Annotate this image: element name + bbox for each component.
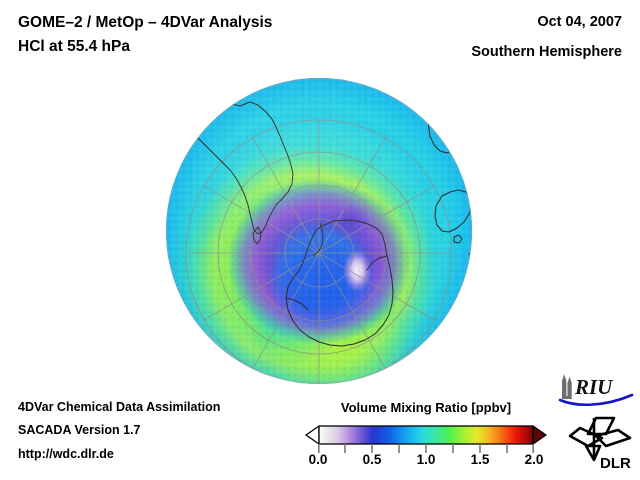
riu-wordmark: RIU	[574, 375, 614, 399]
riu-towers-icon	[562, 374, 572, 399]
title-species: HCl at 55.4 hPa	[18, 38, 130, 56]
title-date: Oct 04, 2007	[537, 14, 622, 30]
colorbar-gradient	[305, 424, 547, 446]
colorbar-cap-min	[306, 426, 319, 444]
dlr-wordmark: DLR	[600, 455, 631, 472]
footer-line-version: SACADA Version 1.7	[18, 423, 141, 437]
sphere-shading	[166, 78, 472, 384]
colorbar-tick-label: 1.5	[471, 452, 490, 467]
colorbar	[305, 424, 547, 446]
colorbar-bar	[319, 426, 533, 444]
globe-disc	[166, 78, 472, 384]
dlr-eagle-icon	[570, 418, 630, 460]
figure-canvas: GOME–2 / MetOp – 4DVar Analysis HCl at 5…	[0, 0, 640, 480]
orthographic-map	[166, 78, 472, 384]
title-instrument: GOME–2 / MetOp – 4DVar Analysis	[18, 14, 272, 32]
colorbar-tick-labels: 0.00.51.01.52.0	[300, 452, 552, 470]
colorbar-tick-label: 0.5	[363, 452, 382, 467]
colorbar-tick-label: 0.0	[309, 452, 328, 467]
colorbar-tick-label: 1.0	[417, 452, 436, 467]
riu-logo: RIU	[556, 370, 636, 408]
dlr-logo: DLR	[566, 416, 638, 472]
title-region: Southern Hemisphere	[471, 44, 622, 60]
footer-line-url[interactable]: http://wdc.dlr.de	[18, 447, 114, 461]
colorbar-title: Volume Mixing Ratio [ppbv]	[318, 400, 534, 415]
footer-line-assimilation: 4DVar Chemical Data Assimilation	[18, 400, 220, 414]
colorbar-tick-label: 2.0	[525, 452, 544, 467]
colorbar-cap-max	[533, 426, 546, 444]
